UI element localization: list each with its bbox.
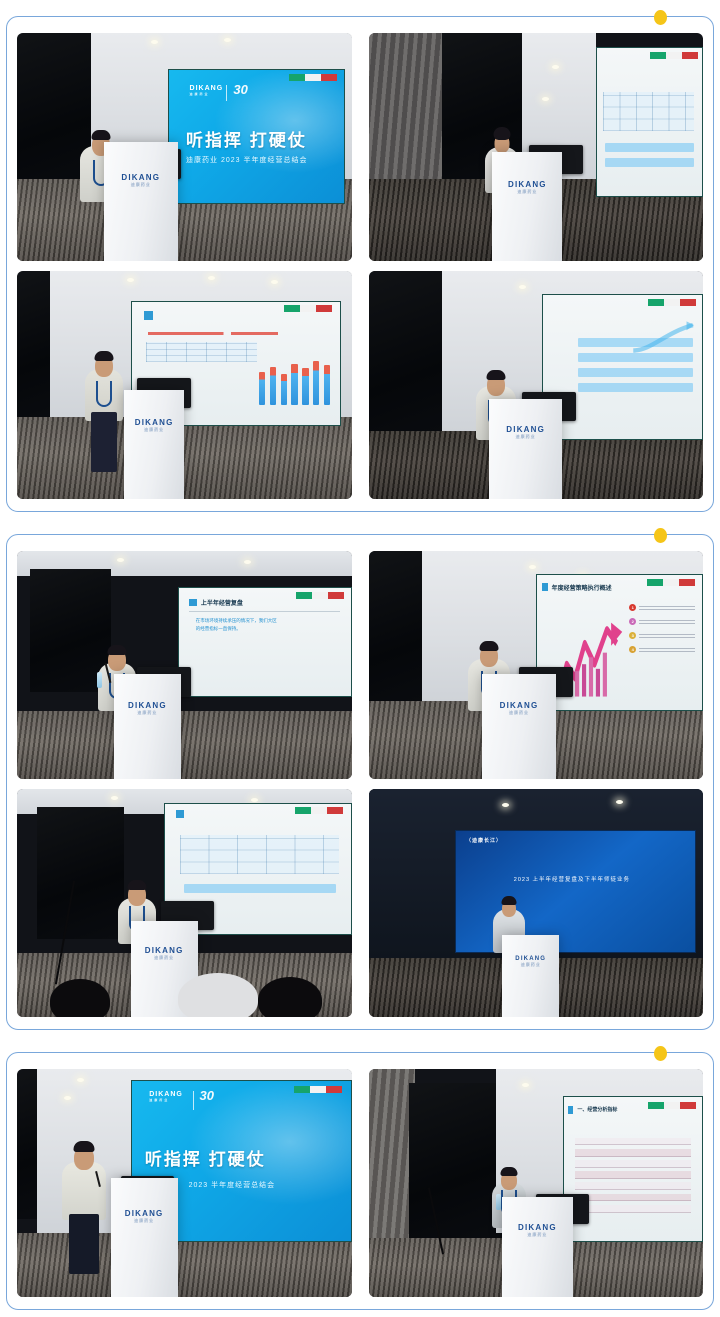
screen-subtitle: 2023 半年度经营总结会 bbox=[189, 1180, 276, 1190]
podium: DIKANG 迪康药业 bbox=[124, 390, 184, 499]
logo-divider bbox=[226, 85, 227, 101]
card-accent-dot-icon bbox=[654, 1046, 667, 1061]
slide-corner-tag-icon bbox=[284, 305, 332, 312]
audience-member bbox=[258, 977, 322, 1017]
screen-subtitle: 2023 上半年经营复盘及下半年师徒业务 bbox=[514, 875, 630, 883]
podium: DIKANG 迪康药业 bbox=[502, 1197, 572, 1297]
floor bbox=[17, 1233, 352, 1297]
podium-logo-sub: 迪康药业 bbox=[135, 427, 174, 433]
podium-logo-sub: 迪康药业 bbox=[506, 434, 545, 440]
slide-corner-tag-icon bbox=[295, 807, 343, 814]
gallery-page: DIKANG 迪康药业 30 听指挥 打硬仗 迪康药业 2023 半年度经营总结… bbox=[0, 16, 720, 1317]
podium-logo: DIKANG 迪康药业 bbox=[506, 425, 545, 440]
photo-card-2[interactable]: 上半年经营复盘 在市场环境持续承压的情况下，我们大区的经营指标一直保持。 DIK… bbox=[6, 534, 714, 1030]
podium-logo-text: DIKANG bbox=[518, 1223, 557, 1232]
ceiling-light-icon bbox=[529, 565, 536, 569]
presentation-screen bbox=[596, 47, 703, 197]
slide-corner-tag-icon bbox=[294, 1086, 342, 1093]
podium-logo-text: DIKANG bbox=[125, 1209, 164, 1218]
podium: DIKANG 迪康药业 bbox=[104, 142, 178, 261]
podium-logo-sub: 迪康药业 bbox=[125, 1218, 164, 1224]
slide-corner-tag-icon bbox=[650, 52, 698, 59]
slide-table bbox=[603, 92, 693, 131]
podium-logo: DIKANG 迪康药业 bbox=[121, 173, 160, 188]
podium-logo-sub: 迪康药业 bbox=[145, 955, 184, 961]
screen-title: 听指挥 打硬仗 bbox=[186, 126, 307, 151]
screen-brand-logo: DIKANG 迪康药业 bbox=[149, 1091, 183, 1102]
slide-divider bbox=[189, 611, 340, 612]
slide-blue-rows bbox=[184, 884, 336, 893]
photo-opening-keynote[interactable]: DIKANG 迪康药业 30 听指挥 打硬仗 迪康药业 2023 半年度经营总结… bbox=[17, 33, 352, 261]
photo-grid: DIKANG 迪康药业 30 听指挥 打硬仗 2023 半年度经营总结会 bbox=[17, 1069, 703, 1297]
podium-logo-text: DIKANG bbox=[145, 946, 184, 955]
podium-logo: DIKANG 迪康药业 bbox=[508, 180, 547, 195]
podium-logo-text: DIKANG bbox=[135, 418, 174, 427]
slide-bar-chart bbox=[259, 351, 330, 405]
ceiling-light-icon bbox=[224, 38, 231, 42]
screen-brand-name: DIKANG bbox=[149, 1091, 183, 1098]
ceiling-light-icon bbox=[522, 1083, 529, 1087]
slide-heading: 一、经营分析指标 bbox=[577, 1106, 617, 1113]
podium-logo-sub: 迪康药业 bbox=[121, 182, 160, 188]
slide-blue-rows bbox=[605, 143, 693, 167]
curtain bbox=[369, 33, 449, 193]
slide-body-text: 在市场环境持续承压的情况下，我们大区的经营指标一直保持。 bbox=[196, 617, 279, 632]
podium-logo-sub: 迪康药业 bbox=[518, 1232, 557, 1238]
ceiling-light-icon bbox=[127, 278, 134, 282]
ceiling-light-icon bbox=[519, 285, 526, 289]
floor bbox=[17, 711, 352, 779]
anniversary-badge: 30 bbox=[200, 1088, 214, 1103]
podium-logo-sub: 迪康药业 bbox=[500, 710, 539, 716]
photo-midyear-review-slide[interactable]: 上半年经营复盘 在市场环境持续承压的情况下，我们大区的经营指标一直保持。 DIK… bbox=[17, 551, 352, 779]
slide-table bbox=[146, 342, 257, 362]
screen-title: 听指挥 打硬仗 bbox=[145, 1145, 266, 1170]
dark-wall bbox=[37, 807, 124, 939]
photo-card-1[interactable]: DIKANG 迪康药业 30 听指挥 打硬仗 迪康药业 2023 半年度经营总结… bbox=[6, 16, 714, 512]
podium-logo: DIKANG 迪康药业 bbox=[518, 1223, 557, 1238]
podium-logo: DIKANG 迪康药业 bbox=[515, 956, 546, 968]
photo-speaker-blue-arrow-slide[interactable]: DIKANG 迪康药业 bbox=[369, 271, 704, 499]
podium: DIKANG 迪康药业 bbox=[489, 399, 563, 499]
slide-corner-tag-icon bbox=[648, 1102, 696, 1109]
photo-annual-strategy-slide[interactable]: 年度经营策略执行概述 bbox=[369, 551, 704, 779]
podium-logo-sub: 迪康药业 bbox=[128, 710, 167, 716]
ceiling-light-icon bbox=[117, 558, 124, 562]
podium-logo-text: DIKANG bbox=[506, 425, 545, 434]
slide-corner-tag-icon bbox=[648, 299, 696, 306]
photo-speaker-form-table-slide[interactable]: 一、经营分析指标 DIKANG 迪康药业 bbox=[369, 1069, 704, 1297]
podium-logo-sub: 迪康药业 bbox=[515, 962, 546, 968]
podium-logo: DIKANG 迪康药业 bbox=[125, 1209, 164, 1224]
photo-blue-led-wall-speech[interactable]: （迪康长江） 2023 上半年经营复盘及下半年师徒业务 DIKANG 迪康药业 bbox=[369, 789, 704, 1017]
ceiling-light-icon bbox=[502, 803, 509, 807]
screen-heading: （迪康长江） bbox=[466, 837, 502, 844]
podium-logo-text: DIKANG bbox=[121, 173, 160, 182]
slide-corner-tag-icon bbox=[647, 579, 695, 586]
slide-heading: 上半年经营复盘 bbox=[201, 598, 243, 607]
slide-form-table bbox=[575, 1138, 691, 1224]
photo-female-speaker-data-slide[interactable]: DIKANG 迪康药业 bbox=[369, 33, 704, 261]
photo-speaker-with-microphone[interactable]: DIKANG 迪康药业 30 听指挥 打硬仗 2023 半年度经营总结会 bbox=[17, 1069, 352, 1297]
anniversary-badge: 30 bbox=[233, 82, 247, 97]
photo-speaker-with-audience[interactable]: DIKANG 迪康药业 bbox=[17, 789, 352, 1017]
ceiling-light-icon bbox=[208, 276, 215, 280]
water-bottle bbox=[97, 672, 102, 688]
slide-heading: 年度经营策略执行概述 bbox=[552, 583, 612, 592]
slide-corner-tag-icon bbox=[289, 74, 337, 81]
card-accent-dot-icon bbox=[654, 10, 667, 25]
podium-logo-sub: 迪康药业 bbox=[508, 189, 547, 195]
screen-brand-sub: 迪康药业 bbox=[190, 92, 224, 96]
slide-arrow-graphic bbox=[632, 306, 695, 372]
presentation-screen: 上半年经营复盘 在市场环境持续承压的情况下，我们大区的经营指标一直保持。 bbox=[178, 587, 352, 696]
podium: DIKANG 迪康药业 bbox=[502, 935, 559, 1017]
audience-member bbox=[178, 973, 258, 1017]
podium-logo: DIKANG 迪康药业 bbox=[145, 946, 184, 961]
podium: DIKANG 迪康药业 bbox=[111, 1178, 178, 1297]
screen-brand-name: DIKANG bbox=[190, 85, 224, 92]
podium: DIKANG 迪康药业 bbox=[114, 674, 181, 779]
podium-logo-text: DIKANG bbox=[128, 701, 167, 710]
podium: DIKANG 迪康药业 bbox=[482, 674, 556, 779]
slide-highlight-line bbox=[148, 332, 277, 335]
podium-logo: DIKANG 迪康药业 bbox=[128, 701, 167, 716]
dark-doorway bbox=[409, 1083, 503, 1243]
floor bbox=[17, 417, 352, 499]
presentation-screen: DIKANG 迪康药业 30 听指挥 打硬仗 迪康药业 2023 半年度经营总结… bbox=[168, 69, 345, 204]
ceiling-light-icon bbox=[111, 796, 118, 800]
ceiling-light-icon bbox=[151, 40, 158, 44]
photo-male-speaker-bar-chart[interactable]: DIKANG 迪康药业 bbox=[17, 271, 352, 499]
podium-logo: DIKANG 迪康药业 bbox=[500, 701, 539, 716]
card-accent-dot-icon bbox=[654, 528, 667, 543]
photo-grid: 上半年经营复盘 在市场环境持续承压的情况下，我们大区的经营指标一直保持。 DIK… bbox=[17, 551, 703, 1017]
screen-brand-sub: 迪康药业 bbox=[149, 1098, 183, 1102]
podium: DIKANG 迪康药业 bbox=[492, 152, 562, 261]
screen-subtitle: 迪康药业 2023 半年度经营总结会 bbox=[186, 155, 307, 165]
podium-logo-text: DIKANG bbox=[508, 180, 547, 189]
slide-accent-bar bbox=[189, 599, 198, 605]
podium-logo-text: DIKANG bbox=[500, 701, 539, 710]
podium-logo: DIKANG 迪康药业 bbox=[135, 418, 174, 433]
slide-bullet-list: 1 2 3 4 bbox=[629, 604, 695, 660]
photo-card-3[interactable]: DIKANG 迪康药业 30 听指挥 打硬仗 2023 半年度经营总结会 bbox=[6, 1052, 714, 1310]
water-bottle bbox=[496, 1194, 501, 1210]
photo-grid: DIKANG 迪康药业 30 听指挥 打硬仗 迪康药业 2023 半年度经营总结… bbox=[17, 33, 703, 499]
slide-table bbox=[180, 835, 339, 874]
slide-corner-tag-icon bbox=[296, 592, 344, 599]
screen-brand-logo: DIKANG 迪康药业 bbox=[190, 85, 224, 96]
presentation-screen: （迪康长江） 2023 上半年经营复盘及下半年师徒业务 bbox=[455, 830, 696, 953]
